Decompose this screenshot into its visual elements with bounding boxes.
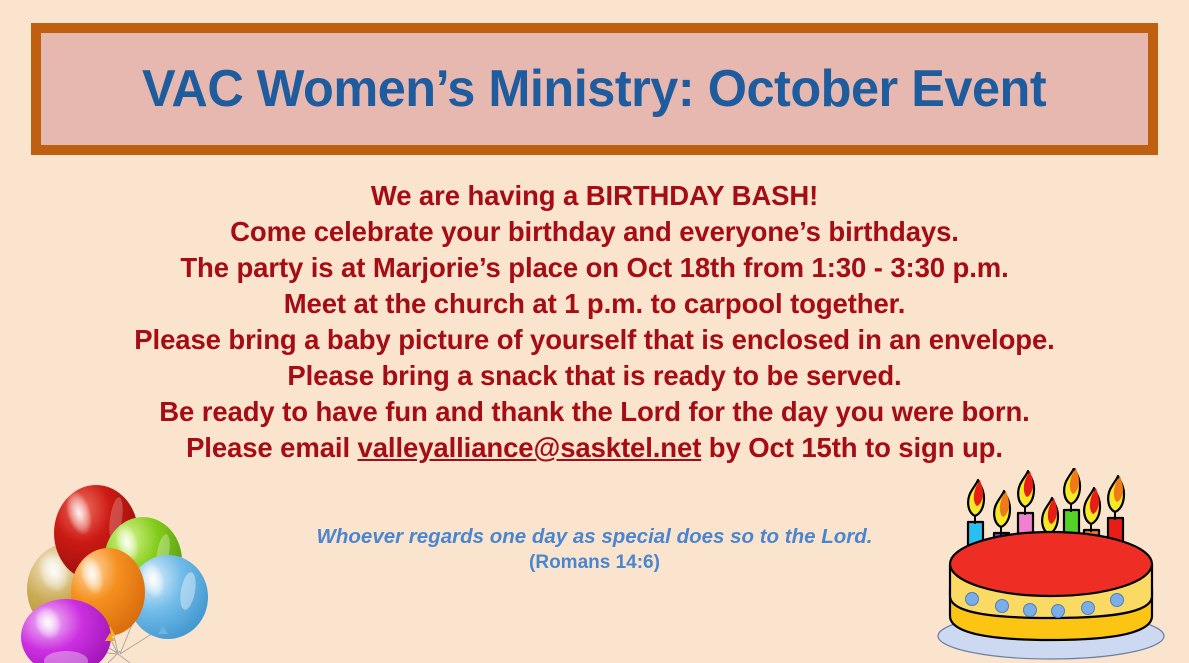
birthday-cake-illustration [918, 468, 1184, 663]
cake-top [950, 532, 1152, 596]
event-details-block: We are having a BIRTHDAY BASH! Come cele… [0, 178, 1189, 466]
body-line-3: The party is at Marjorie’s place on Oct … [0, 250, 1189, 286]
body-line-4: Meet at the church at 1 p.m. to carpool … [0, 286, 1189, 322]
body-line-1: We are having a BIRTHDAY BASH! [0, 178, 1189, 214]
body-line-5: Please bring a baby picture of yourself … [0, 322, 1189, 358]
page-title: VAC Women’s Ministry: October Event [142, 63, 1046, 115]
flyer-canvas: VAC Women’s Ministry: October Event We a… [0, 0, 1189, 663]
body-line-7: Be ready to have fun and thank the Lord … [0, 394, 1189, 430]
balloon-bunch-illustration [8, 473, 208, 663]
candle-flames [968, 468, 1124, 534]
signup-text-after: by Oct 15th to sign up. [701, 432, 1003, 463]
body-line-6: Please bring a snack that is ready to be… [0, 358, 1189, 394]
signup-text-before: Please email [186, 432, 357, 463]
email-link[interactable]: valleyalliance@sasktel.net [358, 432, 702, 463]
signup-line: Please email valleyalliance@sasktel.net … [0, 430, 1189, 466]
body-line-2: Come celebrate your birthday and everyon… [0, 214, 1189, 250]
title-banner: VAC Women’s Ministry: October Event [31, 23, 1158, 155]
